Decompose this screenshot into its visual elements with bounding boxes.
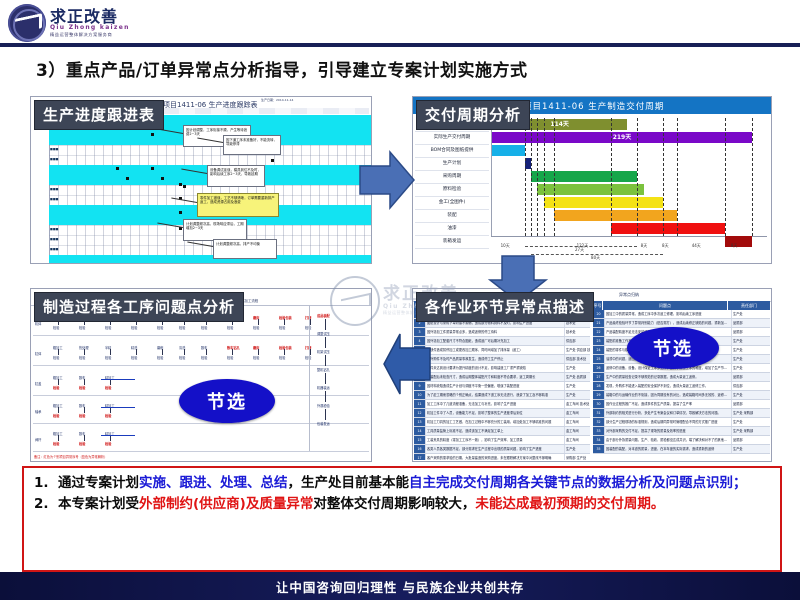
process-node-final: 机器装运 (317, 385, 330, 390)
table-cell-issue: 因缺件造成暂停加工或更改加工顺序，同时间增加了排序量（返工） (426, 346, 565, 354)
process-node-sub: 检验 (53, 413, 59, 418)
table-row[interactable]: 29装箱中的与运输作业的不衔接，因为同期没有的对比，造成装箱时间多无效的、返修工… (593, 391, 770, 400)
table-row[interactable]: 5因缺件造成暂停加工或更改加工顺序，同时间增加了排序量（返工）生产处 供应部 技… (414, 346, 590, 355)
table-cell-no: 20 (593, 310, 605, 318)
table-cell-no: 15 (414, 436, 426, 444)
table-header-cell: 问题点 (603, 301, 728, 310)
process-node-sub: 检验 (79, 385, 85, 390)
chart-bar-label: 装箱发运 (415, 235, 489, 249)
conclusion-item: 2.本专案计划受外部制约(供应商)及质量异常对整体交付周期影响较大，未能达成最初… (58, 495, 780, 514)
table-cell-issue: 因加工中的质量异常，造成工序中多次返工修理，影响后续工序进度 (605, 310, 732, 318)
process-highlight-underline (101, 407, 135, 408)
page-header: 求正改善 Qiu Zhong kaizen 精益运营整体解决方案服务商 (0, 0, 800, 46)
chart-bar-row: 实际生产交付周期219天 (413, 131, 771, 144)
table-cell-dept: 金工车间 (565, 418, 590, 426)
conclusion-box: 1.通过专案计划实施、跟进、处理、总结，生产处目前基本能自主完成交付周期各关键节… (22, 466, 782, 572)
table-row[interactable]: 31外部制约的相关进行分析，多处产生专案会议和订单情况，导致解决方法的问题。生产… (593, 409, 770, 418)
chart-bar-row: 原料检验 (413, 183, 771, 196)
table-cell-issue: 各类人员各类数据不足，部分需求在生产过程中出现的质量问题，影响了生产进度 (426, 445, 565, 453)
process-node-sub: 检验 (53, 325, 59, 330)
process-node: 检验包装 (279, 345, 292, 350)
table-row[interactable]: 6因外购件不及时产品质量事故发生，造成停工生产停止供应部 技术处 (414, 355, 590, 364)
table-cell-issue: 加工工序中了几道流程准备，无法加工与补充，影响了生产进度 (426, 400, 565, 408)
process-row-label: 阀杆 (35, 437, 41, 442)
conclusion-text-segment: 自主完成交付周期各关键节点的数据分析及问题点识别； (409, 475, 747, 491)
delivery-cycle-chart[interactable]: 计划生产交付周期114天实际生产交付周期219天BOM合同及图纸提供生产计划采购… (413, 114, 771, 263)
label-process-problem-analysis: 制造过程各工序问题点分析 (34, 292, 244, 322)
table-cell-no: 22 (593, 328, 605, 336)
table-cell-issue: 工具质量监管上标准不足，造成该加工不满足加工单上 (426, 427, 565, 435)
process-row-label: 缸盖 (35, 381, 41, 386)
table-cell-dept: 生产处 (565, 391, 590, 399)
chart-bar-label: 原料检验 (415, 183, 489, 197)
process-node-final: 成品装配 (317, 313, 330, 318)
table-cell-dept: 生产处 (565, 445, 590, 453)
process-footnote: 备注：红色为个别项目异常序号（蓝色为异常解析） (34, 454, 107, 459)
table-cell-dept: 生产处 采购部 (732, 427, 770, 435)
chart-bar (725, 236, 752, 247)
table-cell-issue: 客户采购的需求验的日期，大批量建造的采购进度，未在跟踪解决方案中对整改不够明确 (426, 454, 565, 460)
conclusion-text-segment: 外部制约(供应商)及质量异常 (139, 496, 313, 512)
table-cell-issue: 因外协加工配套尺寸不符合图纸，造成返厂可后期补充加工 (426, 337, 565, 345)
chart-guideline (525, 118, 526, 236)
process-connector (84, 349, 85, 355)
chart-axis-tick: 44天 (692, 243, 701, 249)
table-cell-no: 34 (593, 436, 605, 444)
process-connector (110, 349, 111, 355)
arrow-right-icon (358, 148, 416, 212)
chart-axis-tick: 8天 (731, 243, 738, 249)
table-row[interactable]: 33对外部采购的交付不足，提高了现场的质量及效率的进度生产处 采购部 (593, 427, 770, 436)
table-cell-dept: 生产处 (732, 346, 770, 354)
process-node-sub: 检验 (253, 355, 259, 360)
table-row[interactable]: 15工装夹具的精度（零加工工序不一致），影响了生产效率、加工质量金工车间 (414, 436, 590, 445)
table-row[interactable]: 28发现，外购件不能进入装配的安全保护不到位，造成大量返工返修工作。供应部 (593, 382, 770, 391)
table-row[interactable]: 35因装配的装配，对本道的质量，进度，在本年度的实际需求，造成重新的返修生产处 (593, 445, 770, 454)
process-connector (58, 379, 59, 385)
chart-guideline (725, 118, 726, 236)
table-cell-issue: 机加工刀具的加工工艺做，在加工过程中不够充分的工装用，增加处加工不够精准的问题 (426, 418, 565, 426)
milestone-marker (179, 183, 182, 186)
table-cell-no: 11 (414, 400, 426, 408)
process-node-sub: 检验 (227, 325, 233, 330)
table-cell-dept: 品质部 (732, 319, 770, 327)
table-cell-dept: 生产处 (732, 418, 770, 426)
note-callout: 计划调整频次高，排产不均衡 (213, 239, 277, 259)
process-node: 数车钻孔 (227, 345, 240, 350)
process-node-sub: 检验 (105, 413, 111, 418)
chart-bar-row: 装配 (413, 209, 771, 222)
table-cell-issue: 因外购件不及时产品质量事故发生，造成停工生产停止 (426, 355, 565, 363)
process-connector (58, 349, 59, 355)
table-cell-issue: 因装配后未检查尺寸，造成后期整体装配尺寸和精度不符合要求，返工周期长 (426, 373, 565, 381)
brand-name-cn: 求正改善 (50, 9, 130, 24)
table-cell-issue: 发现，外购件不能进入装配的安全保护不到位，造成大量返工返修工作。 (605, 382, 732, 390)
table-row[interactable]: 7零件未达到设计要求为提升精度的设计不足，影响建造工厂重严重缺陷生产处 (414, 364, 590, 373)
process-node-sub: 检验 (253, 325, 259, 330)
table-row (49, 155, 371, 165)
table-cell-issue: 外部制约的相关进行分析，多处产生专案会议和订单情况，导致解决方法的问题。 (605, 409, 732, 417)
table-cell-no: 13 (414, 418, 426, 426)
table-cell-no: 35 (593, 445, 605, 453)
label-abnormal-descriptions: 各作业环节异常点描述 (416, 292, 594, 322)
chart-guideline (663, 118, 664, 236)
table-row[interactable]: 8因装配后未检查尺寸，造成后期整体装配尺寸和精度不符合要求，返工周期长生产处 品… (414, 373, 590, 382)
process-node-sub: 检验 (131, 355, 137, 360)
conclusion-text-segment: ，生产处目前基本能 (288, 475, 410, 491)
table-cell-dept: 供应部 (732, 382, 770, 390)
process-node-final: 调整试压 (317, 331, 330, 336)
brand-logo: 求正改善 Qiu Zhong kaizen 精益运营整体解决方案服务商 (8, 2, 138, 44)
process-node-sub: 检验 (105, 325, 111, 330)
table-cell-issue: 对外部采购的交付不足，提高了现场的质量及效率的进度 (605, 427, 732, 435)
process-connector (325, 391, 326, 402)
table-row[interactable]: 12机加工件中了人员，设备能力不足，影响了整体的生产进度滞后到位金工车间 (414, 409, 590, 418)
chart-bar-row: 油漆 (413, 222, 771, 235)
table-row[interactable]: 17客户采购的需求验的日期，大批量建造的采购进度，未在跟踪解决方案中对整改不够明… (414, 454, 590, 460)
process-connector (325, 409, 326, 420)
process-column-divider (309, 305, 310, 451)
progress-sheet-meta: 生产日期：2014-11-14 (261, 98, 293, 102)
process-node-final: 机架试压 (317, 349, 330, 354)
table-cell-no: 24 (593, 346, 605, 354)
chart-bar (492, 145, 525, 156)
note-callout: 设备调试延误，模具到位不及时，影响后续工序2~3天，导致延期 (207, 165, 265, 187)
process-node-sub: 检验 (79, 413, 85, 418)
chart-bar-row: 采购周期 (413, 170, 771, 183)
chart-guideline (677, 118, 678, 236)
process-connector (325, 355, 326, 366)
table-cell-no: 29 (593, 391, 605, 399)
chart-guideline (537, 118, 538, 236)
table-row[interactable]: 14工具质量监管上标准不足，造成该加工不满足加工单上金工车间 (414, 427, 590, 436)
process-row-divider (33, 451, 369, 452)
process-connector (325, 337, 326, 348)
process-highlight-underline (101, 435, 135, 436)
table-header-cell: 责任部门 (728, 301, 770, 310)
process-connector (206, 349, 207, 355)
process-connector (258, 319, 259, 325)
table-header-row: 序号问题点责任部门 (593, 301, 770, 310)
process-node-sub: 检验 (131, 325, 137, 330)
chart-bar (531, 171, 637, 182)
table-cell-no: 17 (414, 454, 426, 460)
chart-guideline (611, 118, 612, 236)
process-node-sub: 检验 (179, 355, 185, 360)
table-cell-issue: 部分生产过程现场的标准规则，造成后期同异常时管理配合不同的方式推广进度 (605, 418, 732, 426)
table-row[interactable]: 27生产中的质量检查记录不够规范的记录数据，造成大量返工返修。品质部 (593, 373, 770, 382)
table-row[interactable]: 16各类人员各类数据不足，部分需求在生产过程中出现的质量问题，影响了生产进度生产… (414, 445, 590, 454)
chart-bar-label: 装配 (415, 209, 489, 223)
process-connector (232, 349, 233, 355)
chart-axis-tick: 10天 (501, 243, 510, 249)
chart-bar (611, 223, 725, 234)
brand-tagline: 精益运营整体解决方案服务商 (50, 32, 130, 38)
chart-axis-tick: 8天 (662, 243, 669, 249)
process-node-sub: 检验 (53, 355, 59, 360)
milestone-marker (183, 185, 186, 188)
table-cell-dept: 品质部 (732, 400, 770, 408)
table-cell-issue: 机加工件中了人员，设备能力不足，影响了整体的生产进度滞后到位 (426, 409, 565, 417)
table-cell-dept: 供应部 (565, 337, 590, 345)
process-node-final: 整机钻孔 (317, 367, 330, 372)
chart-bar-row: BOM合同及图纸提供 (413, 144, 771, 157)
process-node-sub: 检验 (157, 355, 163, 360)
table-cell-dept: 品质部 (732, 373, 770, 381)
process-connector (325, 373, 326, 384)
table-cell-no: 14 (414, 427, 426, 435)
table-cell-dept: 生产处 (565, 382, 590, 390)
table-cell-no: 27 (593, 373, 605, 381)
table-cell-dept: 供应部 技术处 (565, 355, 590, 363)
process-node: 检验包装 (279, 315, 292, 320)
table-cell-no: 25 (593, 355, 605, 363)
process-node-final: 包装发运 (317, 421, 330, 426)
process-connector (136, 349, 137, 355)
note-callout: 零件加工错误，工艺不够清晰，订单需要重新排产返工，造成资源占用及浪费 (197, 193, 279, 217)
table-row[interactable]: 20因加工中的质量异常，造成工序中多次返工修理，影响后续工序进度生产处 (593, 310, 770, 319)
table-cell-dept: 金工车间 (565, 409, 590, 417)
chart-guideline (544, 118, 545, 236)
process-connector (284, 319, 285, 325)
table-cell-dept: 采购部 生产处 (565, 454, 590, 460)
note-callout: 因下道工序未准备好，不能流转，导致停滞 (223, 135, 281, 155)
process-connector (162, 349, 163, 355)
table-cell-no: 33 (593, 427, 605, 435)
process-node-sub: 检验 (79, 325, 85, 330)
table-cell-issue: 工装夹具的精度（零加工工序不一致），影响了生产效率、加工质量 (426, 436, 565, 444)
conclusion-item: 1.通过专案计划实施、跟进、处理、总结，生产处目前基本能自主完成交付周期各关键节… (58, 474, 780, 493)
table-row (49, 255, 371, 264)
process-node-sub: 检验 (53, 385, 59, 390)
table-row[interactable]: 4因外协加工配套尺寸不符合图纸，造成返厂可后期补充加工供应部 (414, 337, 590, 346)
table-cell-no: 21 (593, 319, 605, 327)
brand-logo-text: 求正改善 Qiu Zhong kaizen 精益运营整体解决方案服务商 (50, 9, 130, 38)
process-node-sub: 检验 (105, 441, 111, 446)
table-cell-issue: 生产中的质量检查记录不够规范的记录数据，造成大量返工返修。 (605, 373, 732, 381)
table-cell-dept: 生产处 (732, 364, 770, 372)
chart-axis-tick: 8天 (641, 243, 648, 249)
table-cell-issue: 零件未达到设计要求为提升精度的设计不足，影响建造工厂重严重缺陷 (426, 364, 565, 372)
chart-guideline (752, 118, 753, 236)
process-node-sub: 检验 (179, 325, 185, 330)
table-row[interactable]: 32部分生产过程现场的标准规则，造成后期同异常时管理配合不同的方式推广进度生产处 (593, 418, 770, 427)
process-node-final: 外观检验 (317, 403, 330, 408)
process-node-sub: 检验 (79, 355, 85, 360)
table-cell-dept: 生产处 (732, 310, 770, 318)
table-cell-dept: 生产处 (565, 364, 590, 372)
conclusion-item-number: 1. (34, 474, 49, 493)
table-cell-issue: 产品最终检验环节了异常判别能力（是否需打），造成后续修正缺陷的问题，重新加工。 (605, 319, 732, 327)
label-production-progress: 生产进度跟进表 (34, 100, 164, 130)
chart-bar (554, 210, 677, 221)
table-cell-no: 23 (593, 337, 605, 345)
conclusion-text-segment: 实施、跟进、处理、总结 (139, 475, 288, 491)
conclusion-list: 1.通过专案计划实施、跟进、处理、总结，生产处目前基本能自主完成交付周期各关键节… (24, 474, 780, 514)
progress-row-index-column (31, 115, 50, 263)
table-cell-no: 26 (593, 364, 605, 372)
table-row[interactable]: 13机加工刀具的加工工艺做，在加工过程中不够充分的工装用，增加处加工不够精准的问… (414, 418, 590, 427)
chart-bar-label: 实际生产交付周期 (415, 131, 489, 145)
process-node-sub: 检验 (105, 355, 111, 360)
table-row[interactable]: 9因材料缺陷造成生产计划与调度不平衡一些偏差，耽误了装配进度生产处 (414, 382, 590, 391)
chart-guideline (554, 118, 555, 236)
process-connector (84, 379, 85, 385)
process-node-sub: 检验 (79, 441, 85, 446)
table-cell-no: 31 (593, 409, 605, 417)
process-connector (184, 349, 185, 355)
table-cell-no: 28 (593, 382, 605, 390)
abnormal-table-left[interactable]: 序号问题点责任部门1材料开立不及时，加工时中间转运时间长、积压，占据现场有效生产… (414, 301, 590, 460)
table-cell-dept: 技术处 (565, 328, 590, 336)
process-node-sub: 检验 (201, 325, 207, 330)
conclusion-text-segment: 未能达成最初预期的交付周期。 (475, 496, 664, 512)
table-cell-dept: 生产处 (732, 391, 770, 399)
chart-bar-row: 生产计划 (413, 157, 771, 170)
process-node-sub: 检验 (227, 355, 233, 360)
process-node-sub: 检验 (279, 325, 285, 330)
process-node-sub: 检验 (201, 355, 207, 360)
circle-arrow-logo-icon (8, 4, 46, 42)
callout-excerpt-left: 节选 (179, 379, 275, 423)
chart-bar (544, 197, 663, 208)
milestone-marker (116, 167, 119, 170)
chart-span-label: 80天 (591, 255, 600, 261)
conclusion-text-segment: 对整体交付周期影响较大， (313, 496, 475, 512)
note-callout: 计划调整频次高，现场响应滞后，工期增加2~3天 (183, 219, 247, 241)
table-cell-dept: 生产处 品质部 (565, 373, 590, 381)
process-connector (84, 407, 85, 413)
chart-guideline (637, 118, 638, 236)
table-cell-issue: 因装配的装配，对本道的质量，进度，在本年度的实际需求，造成重新的返修 (605, 445, 732, 453)
chart-bar-label: 生产计划 (415, 157, 489, 171)
process-node-sub: 检验 (279, 355, 285, 360)
table-cell-dept: 金工车间 (565, 436, 590, 444)
progress-sheet-subheader (163, 108, 369, 114)
chart-bar-label: BOM合同及图纸提供 (415, 144, 489, 158)
table-cell-issue: 装箱中的与运输作业的不衔接，因为同期没有的对比，造成装箱时间多无效的、返修工时过… (605, 391, 732, 399)
table-cell-dept: 生产处 供应部 技术处 (565, 346, 590, 354)
process-connector (310, 349, 311, 355)
chart-span-label: 27天 (575, 247, 584, 253)
chart-bar-label: 油漆 (415, 222, 489, 236)
process-connector (284, 349, 285, 355)
abnormal-table-right[interactable]: 序号问题点责任部门20因加工中的质量异常，造成工序中多次返工修理，影响后续工序进… (593, 301, 770, 460)
process-connector (258, 349, 259, 355)
table-cell-dept: 金工车间 (565, 427, 590, 435)
process-connector (310, 319, 311, 325)
milestone-marker (271, 159, 274, 162)
table-cell-dept: 生产处 (732, 445, 770, 453)
header-divider (0, 43, 800, 47)
process-connector (58, 435, 59, 441)
table-cell-no: 12 (414, 409, 426, 417)
chart-guideline (531, 118, 532, 236)
milestone-marker (151, 133, 154, 136)
milestone-marker (151, 167, 154, 170)
chart-bar-label: 金工(全图件) (415, 196, 489, 210)
table-row[interactable]: 11加工工序中了几道流程准备，无法加工与补充，影响了生产进度金工车间 技术处 (414, 400, 590, 409)
conclusion-item-number: 2. (34, 495, 49, 514)
table-cell-dept: 生产处 (732, 355, 770, 363)
table-cell-dept: 品质部 (732, 436, 770, 444)
table-row[interactable]: 30因作业过程的推广不足，造成事件的生产质量，提高了生产率品质部 (593, 400, 770, 409)
process-row-label: 缸体 (35, 351, 41, 356)
table-cell-dept: 品质部 (732, 328, 770, 336)
table-cell-issue: 因作业过程的推广不足，造成事件的生产质量，提高了生产率 (605, 400, 732, 408)
table-cell-dept: 生产处 (732, 337, 770, 345)
page-footer: 让中国咨询回归理性 与民族企业共创共存 (0, 572, 800, 600)
process-row-label: 轴承 (35, 409, 41, 414)
abnormal-sheet-title: 异常点归纳 (619, 292, 639, 298)
progress-sheet-body[interactable]: ■■■■■■■■■■■■■■■■■■■■■■■■■■■■■■■■■■■■■■■■… (31, 115, 371, 263)
table-header-cell: 序号 (593, 301, 603, 310)
table-cell-no: 16 (414, 445, 426, 453)
process-node-sub: 检验 (105, 385, 111, 390)
table-cell-issue: 由于部分外协质量问题，生产、验收、质检都没达成共识，端了解决和对不了的其他质量改… (605, 436, 732, 444)
callout-excerpt-right: 节选 (627, 327, 719, 369)
milestone-marker (179, 211, 182, 214)
table-cell-issue: 为了赶工期而忽略的个别正确点，结果造成下道工序无法进行，浪费了加工及不够精准 (426, 391, 565, 399)
table-cell-issue: 因外协加工件质量异常点多，造成返修的停工待料 (426, 328, 565, 336)
table-row[interactable]: 3因外协加工件质量异常点多，造成返修的停工待料技术处 (414, 328, 590, 337)
process-row-divider (33, 365, 369, 366)
process-highlight-underline (101, 379, 135, 380)
label-delivery-cycle: 交付周期分析 (416, 100, 530, 130)
table-row[interactable]: 34由于部分外协质量问题，生产、验收、质检都没达成共识，端了解决和对不了的其他质… (593, 436, 770, 445)
page-title: 3）重点产品/订单异常点分析指导，引导建立专案计划实施方式 (36, 56, 766, 82)
table-cell-issue: 因材料缺陷造成生产计划与调度不平衡一些偏差，耽误了装配进度 (426, 382, 565, 390)
process-connector (325, 319, 326, 330)
process-node-sub: 检验 (53, 441, 59, 446)
table-row[interactable]: 10为了赶工期而忽略的个别正确点，结果造成下道工序无法进行，浪费了加工及不够精准… (414, 391, 590, 400)
table-cell-no: 30 (593, 400, 605, 408)
chart-bar-row: 金工(全图件) (413, 196, 771, 209)
brand-name-en: Qiu Zhong kaizen (50, 24, 130, 32)
arrow-left-icon (382, 328, 432, 400)
table-cell-dept: 金工车间 技术处 (565, 400, 590, 408)
chart-bar-label: 采购周期 (415, 170, 489, 184)
milestone-marker (126, 177, 129, 180)
process-connector (58, 407, 59, 413)
table-cell-no: 32 (593, 418, 605, 426)
process-node-sub: 检验 (157, 325, 163, 330)
milestone-marker (161, 177, 164, 180)
conclusion-text-segment: 本专案计划受 (58, 496, 139, 512)
table-cell-dept: 生产处 采购部 (732, 409, 770, 417)
process-connector (84, 435, 85, 441)
conclusion-text-segment: 通过专案计划 (58, 475, 139, 491)
